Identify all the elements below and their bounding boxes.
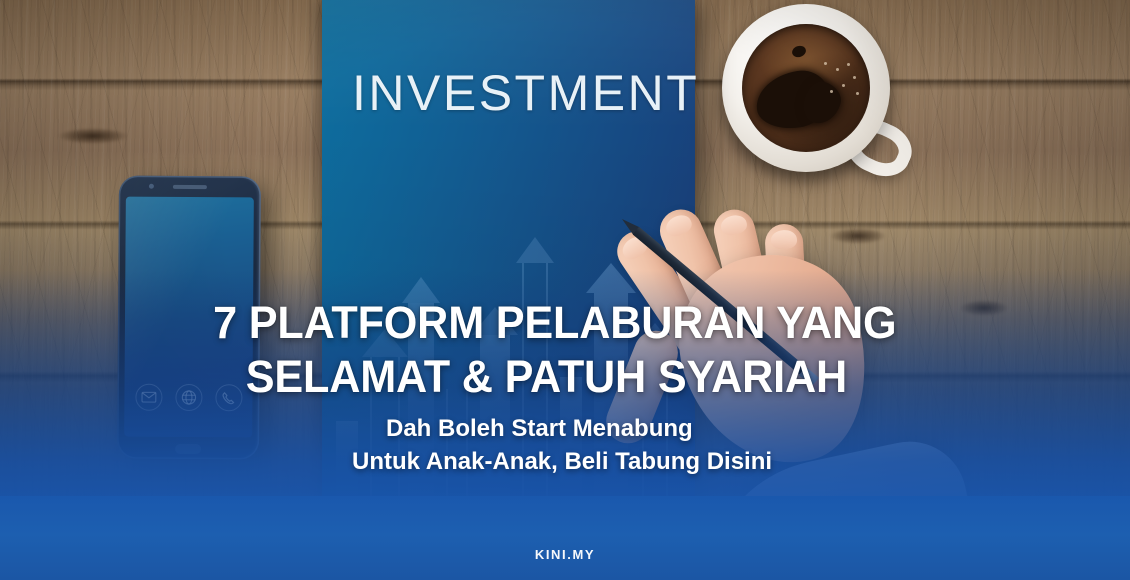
headline-line-2: SELAMAT & PATUH SYARIAH xyxy=(0,350,1085,404)
headline-line-1: 7 PLATFORM PELABURAN YANG xyxy=(0,296,1085,350)
bottom-brand-band xyxy=(0,496,1130,580)
subtitle-line-2: Untuk Anak-Anak, Beli Tabung Disini xyxy=(0,445,1130,478)
subtitle-line-1: Dah Boleh Start Menabung xyxy=(0,412,1130,445)
promo-banner: INVESTMENT xyxy=(0,0,1130,580)
headline-block: 7 PLATFORM PELABURAN YANG SELAMAT & PATU… xyxy=(0,296,1130,478)
site-watermark: KINI.MY xyxy=(0,547,1130,562)
